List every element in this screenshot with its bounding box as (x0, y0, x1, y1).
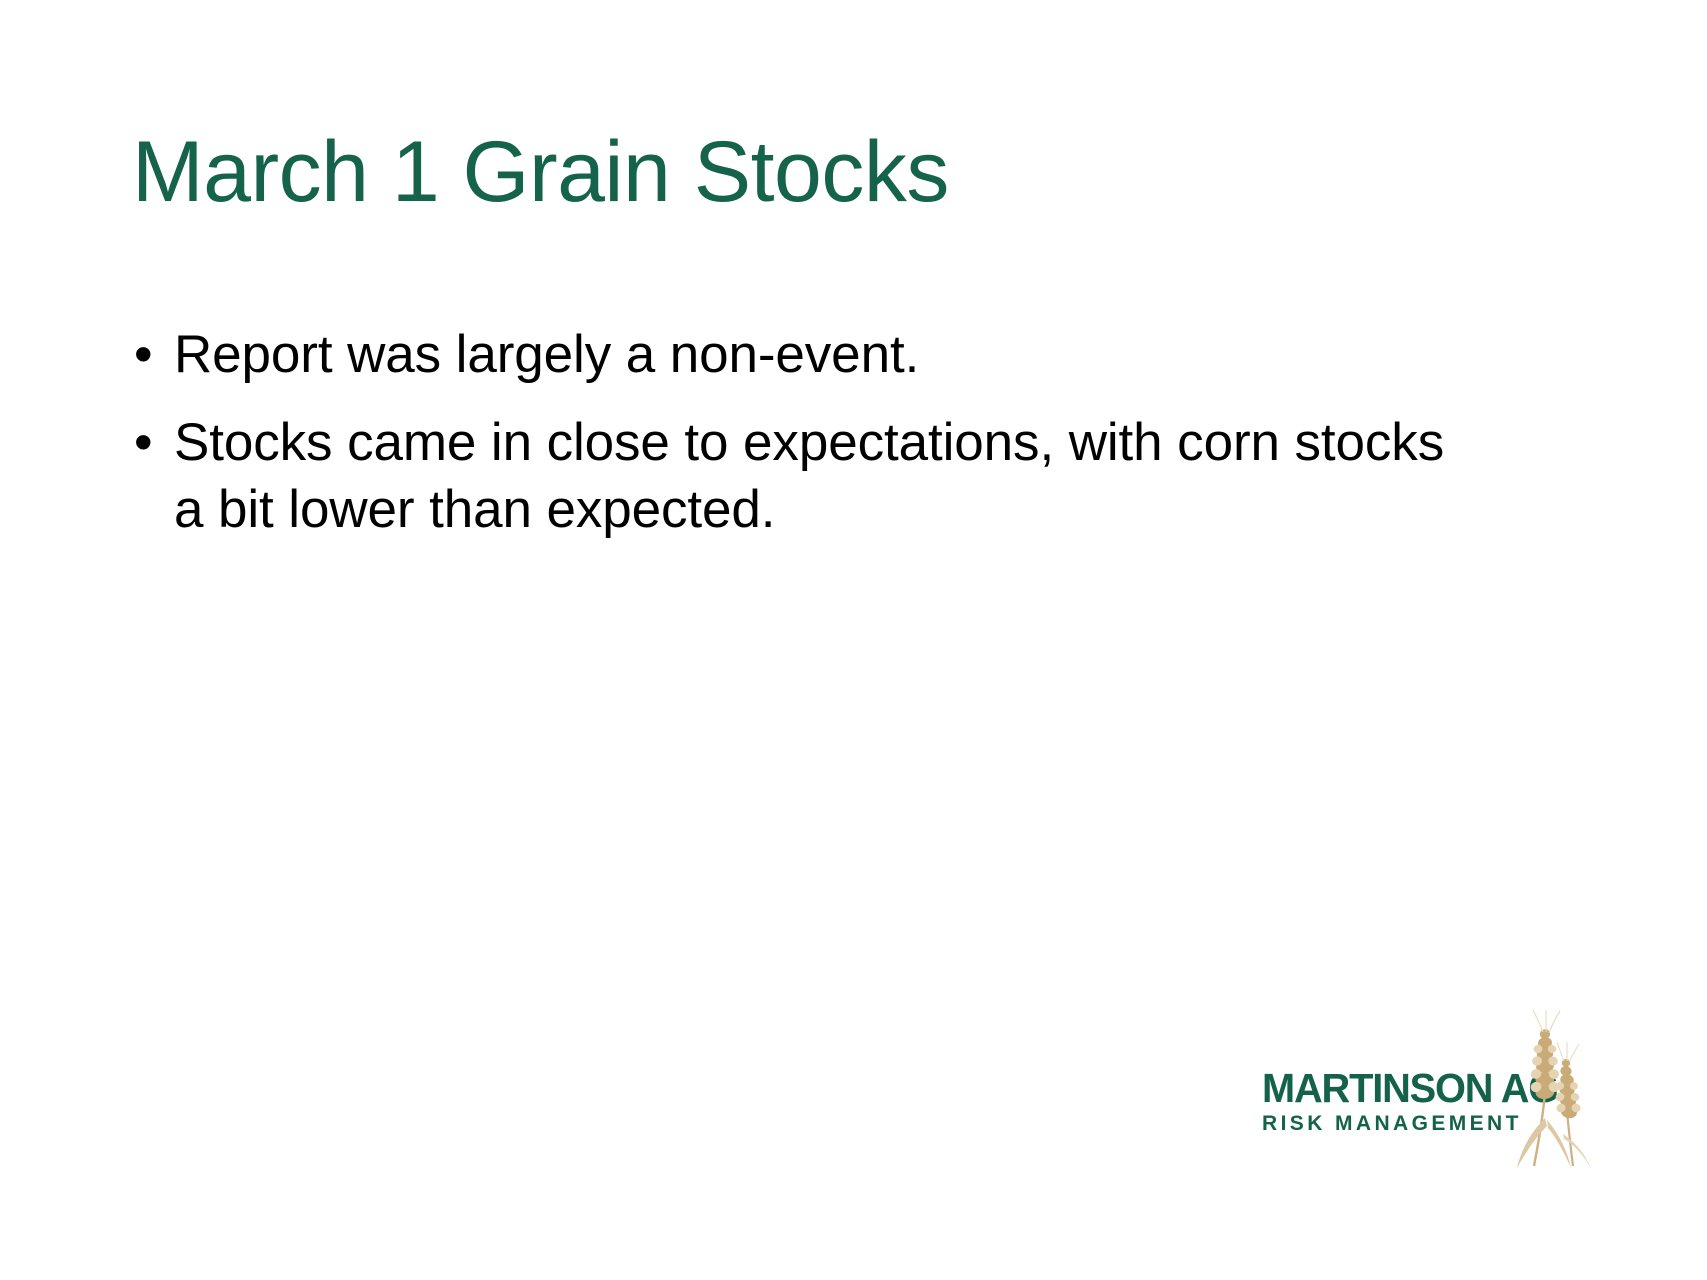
bullet-marker-icon: • (132, 410, 174, 476)
logo-tagline: RISK MANAGEMENT (1262, 1113, 1514, 1134)
bullet-marker-icon: • (132, 322, 174, 388)
bullet-text: Stocks came in close to expectations, wi… (174, 410, 1464, 543)
bullet-item: • Stocks came in close to expectations, … (132, 410, 1502, 543)
presentation-slide: March 1 Grain Stocks • Report was largel… (0, 0, 1707, 1280)
logo-company-name: MARTINSON AG (1262, 1068, 1506, 1109)
wheat-stalks-icon (1505, 1008, 1601, 1170)
bullet-item: • Report was largely a non-event. (132, 322, 1502, 388)
slide-title: March 1 Grain Stocks (132, 128, 1572, 217)
bullet-text: Report was largely a non-event. (174, 322, 1502, 388)
slide-body-bullet-list: • Report was largely a non-event. • Stoc… (132, 322, 1502, 565)
logo-wordmark: MARTINSON AG RISK MANAGEMENT (1262, 1068, 1514, 1134)
company-logo: MARTINSON AG RISK MANAGEMENT (1262, 1008, 1602, 1173)
